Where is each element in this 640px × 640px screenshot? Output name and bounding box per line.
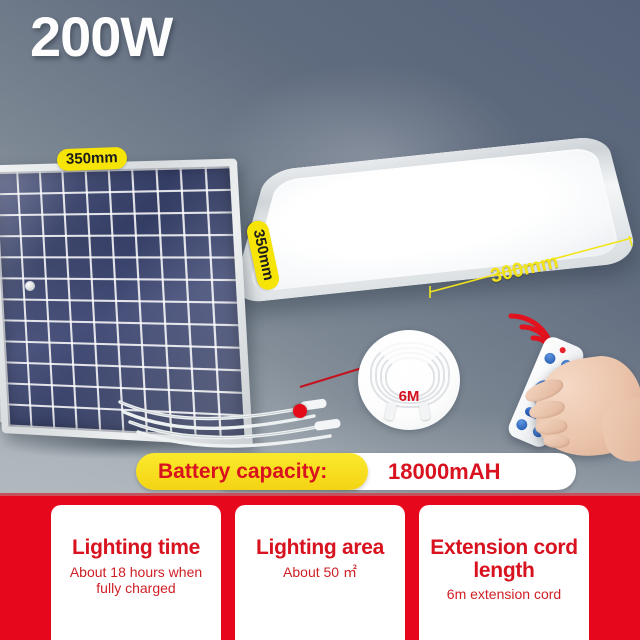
page-title: 200W bbox=[30, 9, 172, 65]
cord-length-label: 6M bbox=[358, 388, 460, 405]
panel-width-label: 350mm bbox=[57, 147, 127, 172]
extension-cord-callout: 6M bbox=[358, 330, 460, 430]
feature-card-lighting-area: Lighting area About 50 ㎡ bbox=[235, 505, 405, 640]
remote-button-3[interactable] bbox=[515, 417, 529, 431]
feature-subtitle: About 18 hours when fully charged bbox=[59, 564, 213, 597]
feature-card-list: Lighting time About 18 hours when fully … bbox=[0, 505, 640, 640]
red-dot-marker-icon bbox=[293, 404, 307, 418]
panel-cable-bundle bbox=[118, 398, 358, 458]
cable-strands bbox=[118, 398, 358, 458]
battery-value: 18000mAH bbox=[388, 459, 501, 485]
feature-title: Lighting area bbox=[243, 537, 397, 560]
remote-control-scene bbox=[495, 306, 640, 456]
feature-subtitle: 6m extension cord bbox=[427, 586, 581, 603]
feature-subtitle: About 50 ㎡ bbox=[243, 564, 397, 581]
lamp-width-dimension: 300mm bbox=[420, 236, 635, 316]
battery-label: Battery capacity: bbox=[158, 460, 327, 484]
remote-led-icon bbox=[559, 346, 567, 354]
feature-title: Lighting time bbox=[59, 537, 213, 560]
feature-card-cord-length: Extension cord length 6m extension cord bbox=[419, 505, 589, 640]
remote-button-1[interactable] bbox=[543, 351, 557, 365]
panel-hinge bbox=[25, 281, 35, 291]
feature-title: Extension cord length bbox=[427, 537, 581, 582]
feature-card-lighting-time: Lighting time About 18 hours when fully … bbox=[51, 505, 221, 640]
little-finger bbox=[543, 434, 569, 448]
ring-finger bbox=[535, 418, 568, 435]
product-infographic: 200W 300mm bbox=[0, 0, 640, 640]
